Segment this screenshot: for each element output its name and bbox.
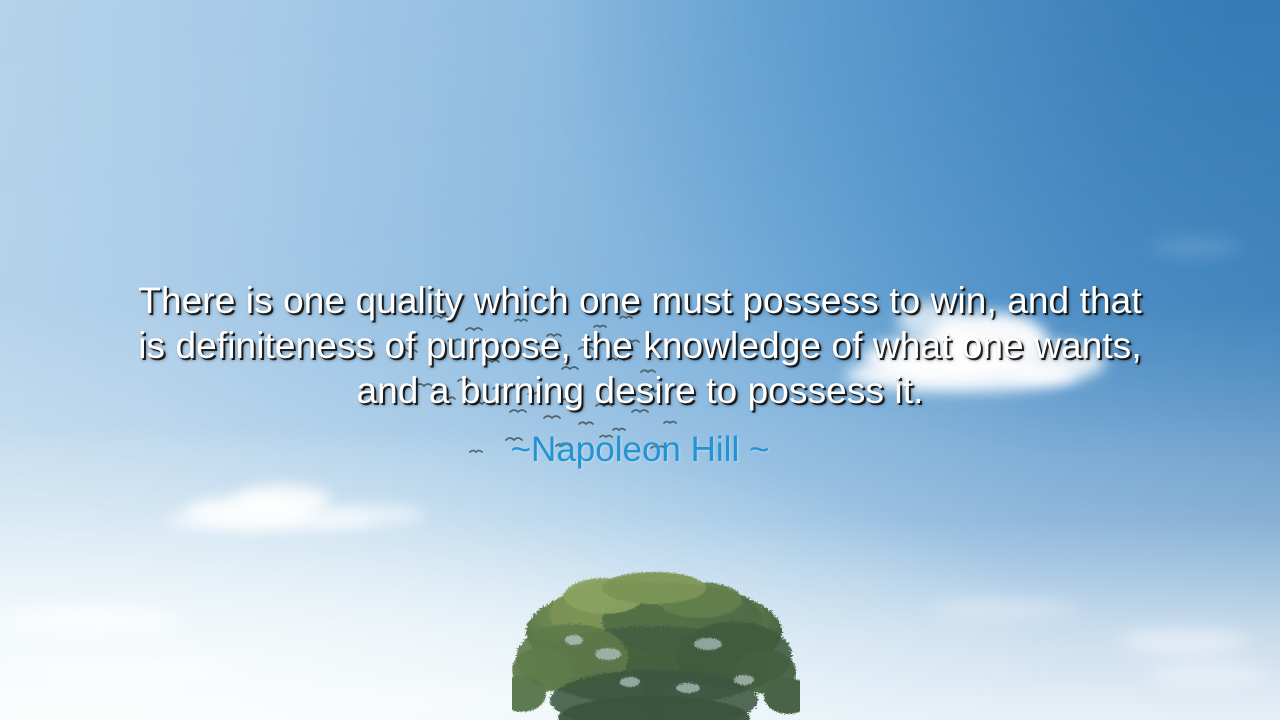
quote-block: There is one quality which one must poss…	[85, 278, 1195, 471]
sky-horizon-haze	[0, 439, 1024, 720]
quote-image-canvas: There is one quality which one must poss…	[0, 0, 1280, 720]
quote-author: ~Napoleon Hill ~	[85, 413, 1195, 471]
quote-text: There is one quality which one must poss…	[85, 278, 1195, 413]
